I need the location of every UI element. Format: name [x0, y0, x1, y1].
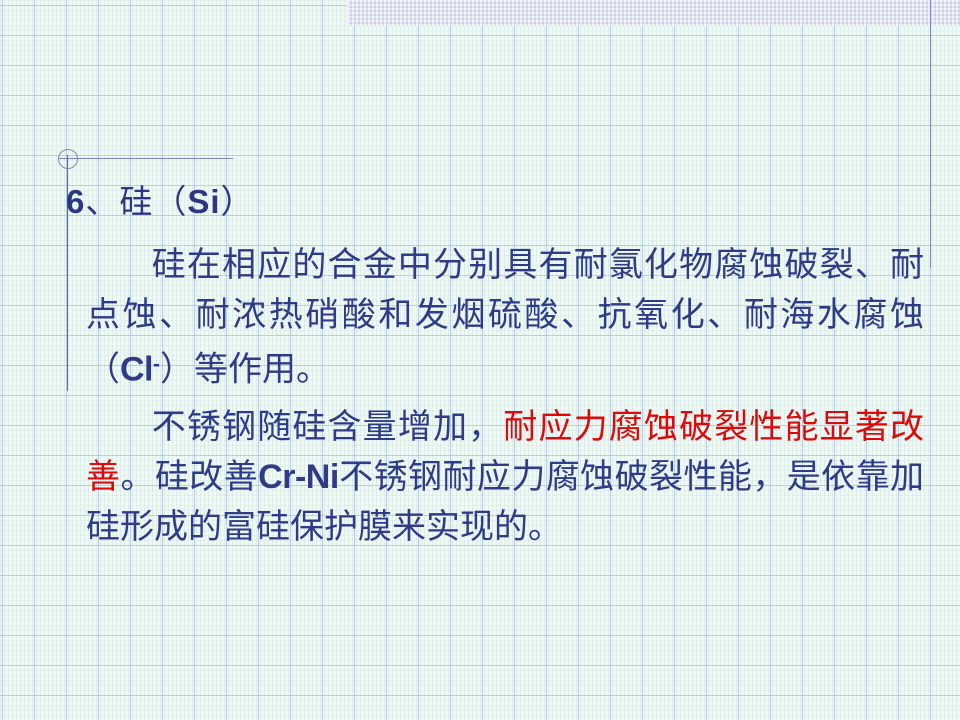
- heading-separator: 、: [85, 182, 119, 221]
- chloride-ion-charge: -: [153, 353, 160, 376]
- heading-paren-close: ）: [221, 182, 255, 221]
- paragraph2-text-part1: 不锈钢随硅含量增加，: [151, 407, 504, 447]
- top-decorative-band: [348, 0, 960, 26]
- slide-canvas: 6、硅（Si） 硅在相应的合金中分别具有耐氯化物腐蚀破裂、耐点蚀、耐浓热硝酸和发…: [0, 0, 960, 720]
- title-horizontal-rule: [58, 158, 233, 159]
- paragraph-stress-corrosion: 不锈钢随硅含量增加，耐应力腐蚀破裂性能显著改善。硅改善Cr-Ni不锈钢耐应力腐蚀…: [86, 402, 924, 552]
- alloy-label-cr-ni: Cr-Ni: [258, 458, 339, 496]
- heading-paren-open: （: [153, 182, 187, 221]
- paragraph2-text-part2: 。硅改善: [120, 457, 258, 497]
- paragraph-silicon-properties: 硅在相应的合金中分别具有耐氯化物腐蚀破裂、耐点蚀、耐浓热硝酸和发烟硫酸、抗氧化、…: [86, 240, 924, 394]
- heading-element-symbol: Si: [187, 183, 220, 220]
- heading-term: 硅: [119, 182, 153, 221]
- chloride-ion-symbol: Cl: [120, 350, 153, 388]
- slide-heading: 6、硅（Si）: [66, 175, 255, 223]
- heading-number: 6: [66, 183, 85, 220]
- circle-bullet-icon: [58, 149, 78, 169]
- paragraph1-text-part2: ）等作用。: [160, 349, 330, 389]
- right-vertical-rule: [930, 0, 931, 268]
